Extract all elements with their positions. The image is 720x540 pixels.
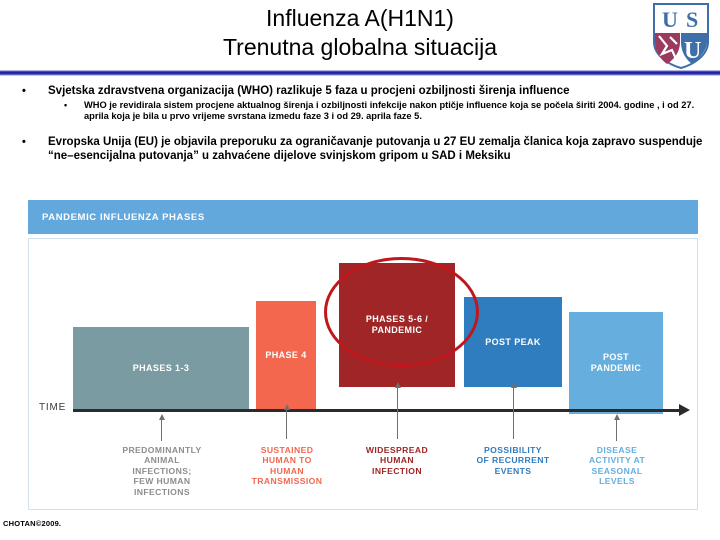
caption-line: SEASONAL (569, 466, 665, 476)
bullet-item-1: • Svjetska zdravstvena organizacija (WHO… (0, 84, 720, 98)
caption-line: HUMAN TO (233, 455, 341, 465)
connector-tick-phases-1-3 (161, 419, 162, 441)
caption-line: HUMAN (347, 455, 447, 465)
caption-line: WIDESPREAD (347, 445, 447, 455)
caption-possibility-of-recurrent-events: POSSIBILITY OF RECURRENT EVENTS (459, 445, 567, 476)
caption-line: EVENTS (459, 466, 567, 476)
phase-box-post-pandemic: POST PANDEMIC (569, 312, 663, 414)
bullet-marker: • (64, 100, 67, 111)
phase-box-label-line-2: PANDEMIC (366, 325, 428, 336)
title-divider (0, 70, 720, 76)
caption-line: DISEASE (569, 445, 665, 455)
caption-line: SUSTAINED (233, 445, 341, 455)
phase-box-phases-5-6-pandemic: PHASES 5-6 / PANDEMIC (339, 263, 455, 387)
diagram-header-bar: PANDEMIC INFLUENZA PHASES (28, 200, 698, 234)
phase-box-post-peak: POST PEAK (464, 297, 562, 387)
phase-box-label-line-1: PHASES 5-6 / (366, 314, 428, 325)
diagram-body: PHASES 1-3 PHASE 4 PHASES 5-6 / PANDEMIC… (28, 238, 698, 510)
bullet-text: Evropska Unija (EU) je objavila preporuk… (48, 136, 702, 162)
phase-box-label-line-2: PANDEMIC (591, 363, 642, 374)
phase-box-label-line-1: POST (591, 352, 642, 363)
caption-line: TRANSMISSION (233, 476, 341, 486)
caption-disease-activity-at-seasonal-levels: DISEASE ACTIVITY AT SEASONAL LEVELS (569, 445, 665, 487)
caption-line: ANIMAL (101, 455, 223, 465)
caption-predominantly-animal-infections: PREDOMINANTLY ANIMAL INFECTIONS; FEW HUM… (101, 445, 223, 497)
connector-tick-post-peak (513, 387, 514, 439)
svg-text:U: U (684, 38, 701, 64)
pandemic-phases-diagram: PANDEMIC INFLUENZA PHASES PHASES 1-3 PHA… (22, 200, 698, 512)
caption-line: HUMAN (233, 466, 341, 476)
bullet-item-1-sub-1: • WHO je revidirala sistem procjene aktu… (0, 100, 720, 122)
page-title-line-1: Influenza A(H1N1) (0, 4, 720, 33)
connector-tick-phase-4 (286, 409, 287, 439)
page-title-line-2: Trenutna globalna situacija (0, 33, 720, 62)
bullet-item-2: • Evropska Unija (EU) je objavila prepor… (0, 135, 720, 163)
caption-line: INFECTIONS; (101, 466, 223, 476)
caption-line: ACTIVITY AT (569, 455, 665, 465)
page-title: Influenza A(H1N1) Trenutna globalna situ… (0, 4, 720, 62)
timeline-arrow-icon (679, 404, 690, 416)
bullet-spacer (0, 122, 720, 135)
phase-box-label: PHASES 1-3 (133, 363, 190, 374)
phase-box-label: POST PEAK (485, 337, 541, 348)
bullet-marker: • (22, 84, 26, 98)
caption-sustained-human-to-human-transmission: SUSTAINED HUMAN TO HUMAN TRANSMISSION (233, 445, 341, 487)
slide-footer-credit: CHOTAN©2009. (3, 519, 61, 528)
caption-line: INFECTIONS (101, 487, 223, 497)
connector-tick-phases-5-6 (397, 387, 398, 439)
usu-shield-logo-icon: U S U (650, 2, 712, 70)
connector-tick-post-pandemic (616, 419, 617, 441)
caption-line: LEVELS (569, 476, 665, 486)
caption-line: PREDOMINANTLY (101, 445, 223, 455)
caption-line: INFECTION (347, 466, 447, 476)
caption-widespread-human-infection: WIDESPREAD HUMAN INFECTION (347, 445, 447, 476)
caption-line: POSSIBILITY (459, 445, 567, 455)
caption-line: OF RECURRENT (459, 455, 567, 465)
phase-box-phase-4: PHASE 4 (256, 301, 316, 409)
svg-text:U: U (662, 7, 678, 32)
axis-label-time: TIME (39, 402, 66, 413)
bullet-text: Svjetska zdravstvena organizacija (WHO) … (48, 85, 570, 97)
phase-box-label: PHASE 4 (265, 350, 306, 361)
diagram-header-label: PANDEMIC INFLUENZA PHASES (42, 212, 205, 223)
timeline-axis (73, 409, 681, 412)
bullet-marker: • (22, 135, 26, 149)
caption-line: FEW HUMAN (101, 476, 223, 486)
phase-box-phases-1-3: PHASES 1-3 (73, 327, 249, 409)
svg-text:S: S (686, 7, 698, 32)
bullet-text: WHO je revidirala sistem procjene aktual… (84, 100, 694, 121)
bullet-list: • Svjetska zdravstvena organizacija (WHO… (0, 84, 720, 192)
